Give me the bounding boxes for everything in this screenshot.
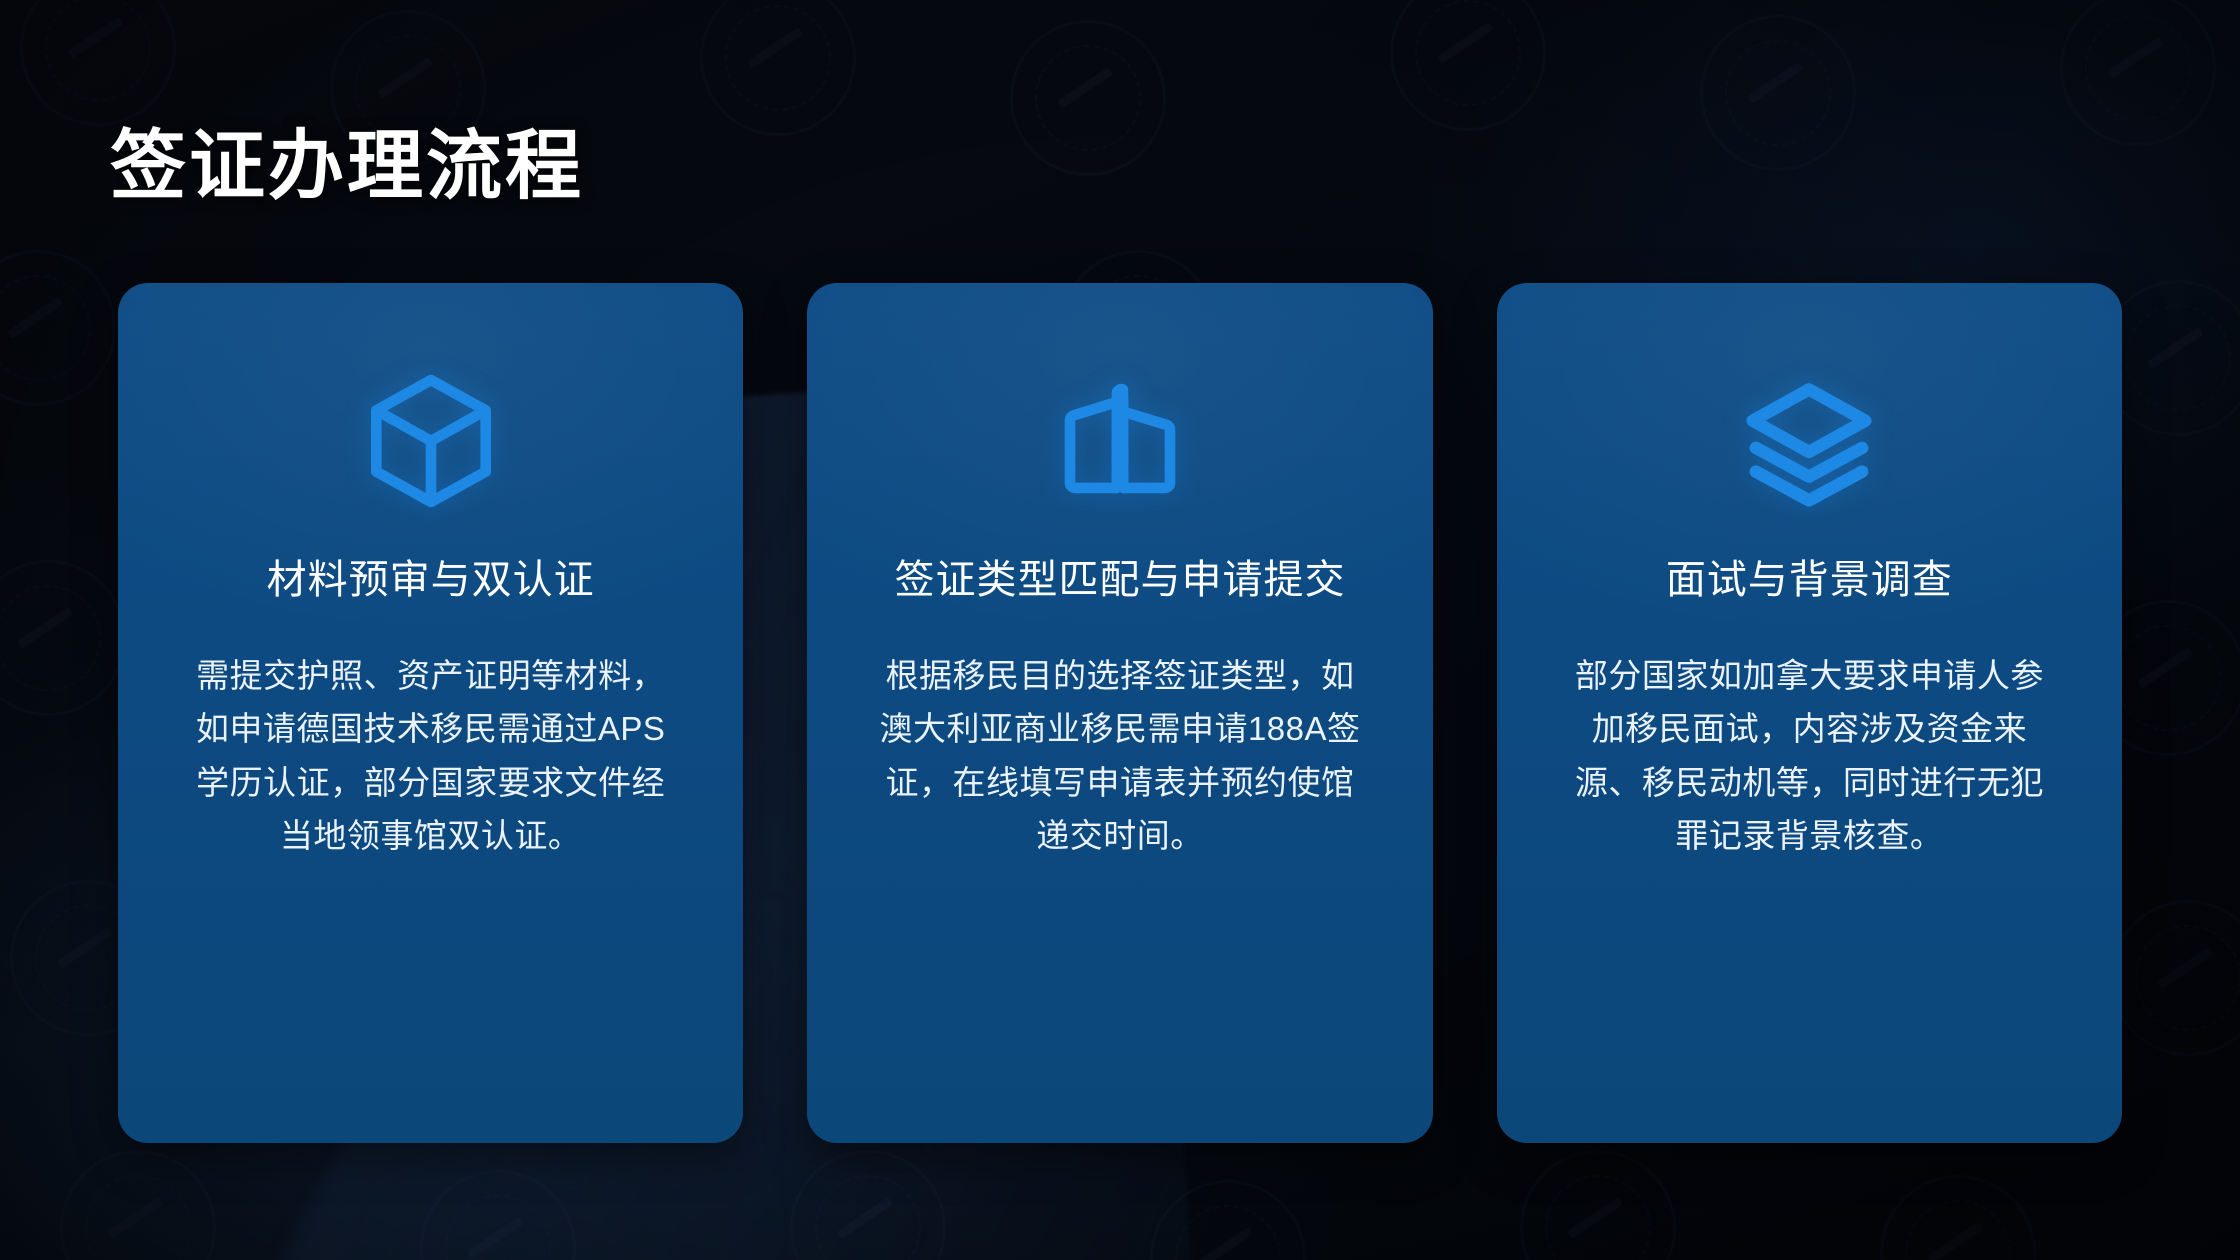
watermark-stamp (0, 232, 134, 425)
process-card-materials[interactable]: 材料预审与双认证 需提交护照、资产证明等材料，如申请德国技术移民需通过APS学历… (118, 283, 743, 1143)
watermark-stamp (1502, 1132, 1695, 1260)
card-heading: 材料预审与双认证 (267, 555, 595, 605)
card-body-text: 需提交护照、资产证明等材料，如申请德国技术移民需通过APS学历认证，部分国家要求… (181, 649, 681, 863)
page-title: 签证办理流程 (110, 129, 584, 205)
watermark-stamp (1682, 0, 1875, 189)
watermark-stamp (1862, 1157, 2055, 1260)
watermark-stamp (42, 1132, 235, 1260)
watermark-stamp (2042, 0, 2235, 164)
card-body-text: 部分国家如加拿大要求申请人参加移民面试，内容涉及资金来源、移民动机等，同时进行无… (1559, 649, 2059, 863)
watermark-stamp (1372, 0, 1565, 149)
slide-root: 签证办理流程 材料预审与双认证 需提交护照、资产证明等材料，如申请德国技术移民需… (0, 0, 2240, 1260)
card-heading: 面试与背景调查 (1666, 555, 1953, 605)
watermark-stamp (772, 1132, 965, 1260)
cube-icon (347, 357, 515, 525)
card-heading: 签证类型匹配与申请提交 (894, 555, 1345, 605)
watermark-stamp (402, 1152, 595, 1260)
watermark-stamp (682, 0, 875, 154)
process-card-visa-type[interactable]: 签证类型匹配与申请提交 根据移民目的选择签证类型，如澳大利亚商业移民需申请188… (807, 283, 1432, 1143)
watermark-stamp (2, 0, 195, 144)
watermark-stamp (1132, 1162, 1325, 1260)
card-body-text: 根据移民目的选择签证类型，如澳大利亚商业移民需申请188A签证，在线填写申请表并… (870, 649, 1370, 863)
process-card-list: 材料预审与双认证 需提交护照、资产证明等材料，如申请德国技术移民需通过APS学历… (118, 283, 2122, 1143)
layers-icon (1725, 357, 1893, 525)
open-book-icon (1036, 357, 1204, 525)
watermark-stamp (992, 2, 1185, 195)
process-card-interview[interactable]: 面试与背景调查 部分国家如加拿大要求申请人参加移民面试，内容涉及资金来源、移民动… (1497, 283, 2122, 1143)
